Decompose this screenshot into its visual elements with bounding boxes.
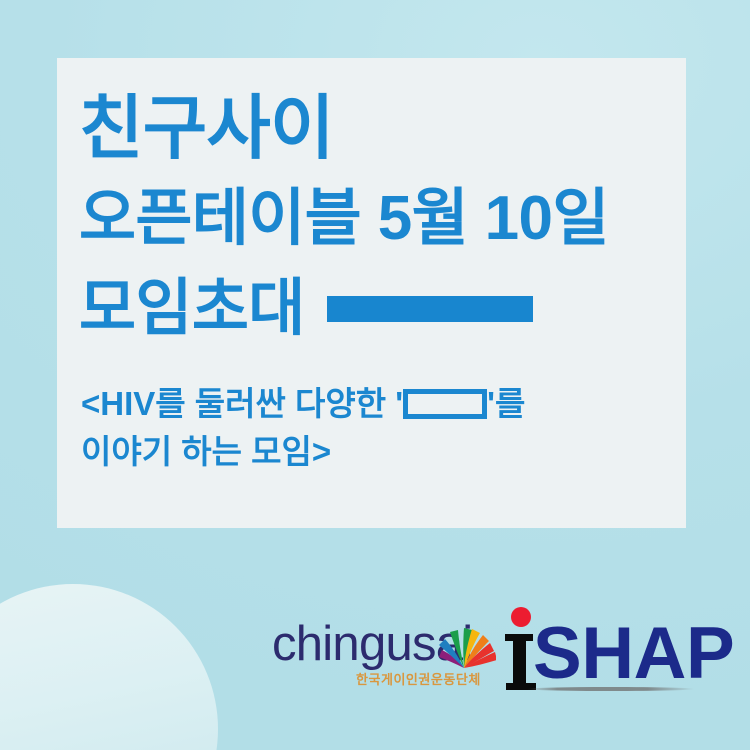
content-card: 친구사이 오픈테이블 5월 10일 모임초대 <HIV를 둘러싼 다양한 ''를… [57, 58, 686, 528]
subtitle-part-2: '를 [487, 385, 525, 422]
card-inner: 친구사이 오픈테이블 5월 10일 모임초대 <HIV를 둘러싼 다양한 ''를… [69, 82, 676, 476]
redaction-bar-icon [327, 296, 533, 322]
rainbow-fan-icon [434, 612, 496, 674]
ishap-red-dot-icon [511, 607, 531, 627]
subtitle-block: <HIV를 둘러싼 다양한 ''를 이야기 하는 모임> [81, 380, 676, 476]
subtitle-part-1: <HIV를 둘러싼 다양한 ' [81, 385, 403, 422]
ishap-logo[interactable]: SHAP [505, 602, 705, 702]
headline-line-2: 오픈테이블 5월 10일 [79, 174, 676, 264]
poster-root: 친구사이 오픈테이블 5월 10일 모임초대 <HIV를 둘러싼 다양한 ''를… [0, 0, 750, 750]
subtitle-line-1: <HIV를 둘러싼 다양한 ''를 [81, 380, 676, 428]
chingusai-logo[interactable]: chingusai 한국게이인권운동단체 [272, 612, 487, 698]
chingusai-korean-tagline: 한국게이인권운동단체 [356, 672, 481, 688]
blank-box-icon [403, 389, 487, 419]
logo-row: chingusai 한국게이인권운동단체 [0, 588, 750, 708]
ishap-wordmark: SHAP [533, 616, 734, 692]
ishap-shadow [527, 687, 695, 691]
subtitle-line-2: 이야기 하는 모임> [81, 428, 676, 476]
headline-line-3: 모임초대 [79, 264, 305, 354]
headline-line-3-row: 모임초대 [79, 264, 676, 354]
ishap-i-stem [513, 634, 526, 690]
headline-line-1: 친구사이 [79, 82, 676, 174]
